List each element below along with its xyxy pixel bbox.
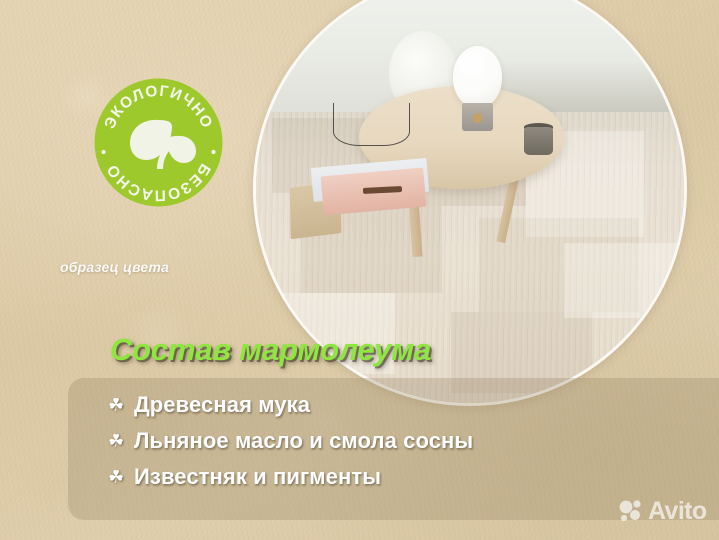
list-item-label: Известняк и пигменты — [134, 464, 381, 490]
clover-icon: ☘ — [108, 468, 134, 486]
badge-dot — [211, 150, 215, 154]
badge-dot — [101, 150, 105, 154]
avito-brand-label: Avito — [648, 499, 707, 524]
list-item: ☘ Древесная мука — [108, 387, 708, 422]
ingredients-list: ☘ Древесная мука ☘ Льняное масло и смола… — [108, 387, 708, 495]
page-title: Состав мармолеума — [110, 332, 431, 368]
list-item: ☘ Известняк и пигменты — [108, 459, 708, 494]
color-sample-caption: образец цвета — [60, 259, 169, 275]
cup — [524, 127, 554, 155]
list-item-label: Древесная мука — [134, 392, 310, 418]
eyeglasses — [333, 103, 410, 146]
floor-plank — [564, 243, 687, 318]
avito-dots-icon — [618, 498, 644, 524]
avito-watermark: Avito — [618, 498, 707, 524]
eco-safe-badge: ЭКОЛОГИЧНО БЕЗОПАСНО — [89, 73, 228, 212]
clover-icon: ☘ — [108, 396, 134, 414]
clover-icon: ☘ — [108, 432, 134, 450]
list-item-label: Льняное масло и смола сосны — [134, 428, 473, 454]
lamp-globe — [453, 46, 502, 108]
advertisement-canvas: ЭКОЛОГИЧНО БЕЗОПАСНО образец цвета Соста… — [0, 0, 719, 540]
list-item: ☘ Льняное масло и смола сосны — [108, 423, 708, 458]
